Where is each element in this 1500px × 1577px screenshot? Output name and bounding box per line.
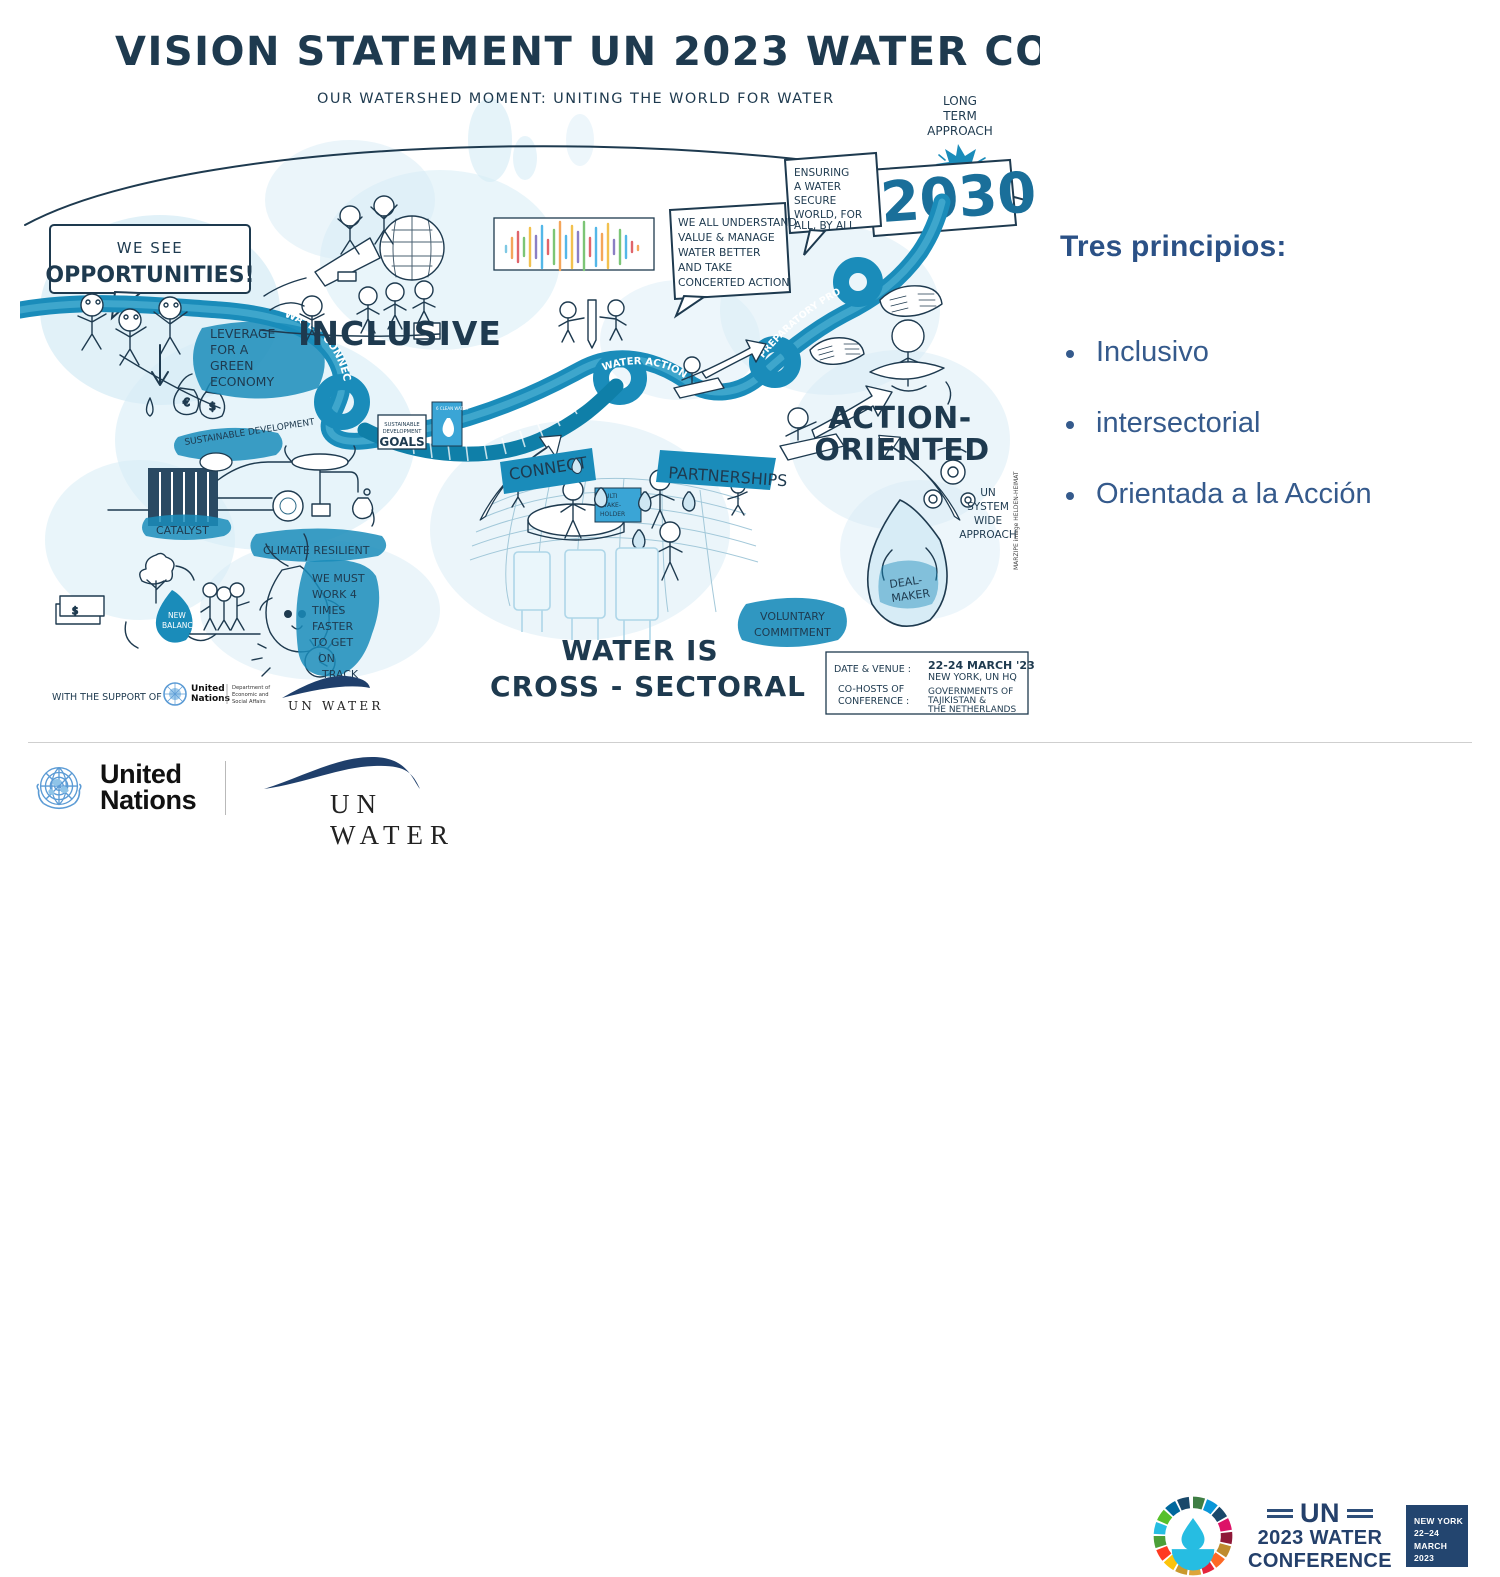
leverage-line3: GREEN xyxy=(210,358,254,373)
soundwave-panel xyxy=(494,218,654,270)
venue-value: NEW YORK, UN HQ xyxy=(928,672,1017,683)
work-faster-line1: WE MUST xyxy=(312,572,365,585)
sdg-badge-line3: GOALS xyxy=(379,435,424,449)
desa-line3: Social Affairs xyxy=(232,699,266,705)
principles-panel: Tres principios: Inclusivo intersectoria… xyxy=(1060,230,1480,549)
conference-un: UN xyxy=(1300,1500,1340,1527)
un-water-logo: UN WATER xyxy=(262,755,512,825)
opportunities-line1: WE SEE xyxy=(117,239,184,257)
principles-list: Inclusivo intersectorial Orientada a la … xyxy=(1060,336,1480,511)
left-bars-icon xyxy=(1267,1509,1293,1518)
long-term-approach-line2: TERM xyxy=(942,109,977,123)
un-wordmark-line2: Nations xyxy=(100,788,196,814)
un-system-line3: WIDE xyxy=(974,515,1002,527)
principle-item-3: Orientada a la Acción xyxy=(1060,478,1480,511)
sign-2030: 2030 xyxy=(868,160,1038,236)
principles-heading: Tres principios: xyxy=(1060,230,1480,264)
venue-line-1: NEW YORK xyxy=(1414,1515,1468,1527)
un-water-wordmark: UN WATER xyxy=(330,789,512,851)
ensuring-line3: SECURE xyxy=(794,195,836,207)
label-catalyst: CATALYST xyxy=(156,524,209,537)
word-water-is: WATER IS xyxy=(561,634,718,667)
cohosts-label-line2: CONFERENCE : xyxy=(838,696,909,707)
svg-text:$: $ xyxy=(209,400,216,413)
principle-item-2: intersectorial xyxy=(1060,407,1480,440)
cohost-line3: THE NETHERLANDS xyxy=(927,705,1016,715)
conference-line3: CONFERENCE xyxy=(1248,1550,1392,1572)
venue-line-2: 22–24 xyxy=(1414,1527,1468,1539)
work-faster-line6: ON xyxy=(318,652,335,665)
understand-line3: WATER BETTER xyxy=(678,246,761,259)
principle-label-1: Inclusivo xyxy=(1096,336,1209,368)
multi-stakeholder-line3: HOLDER xyxy=(600,511,625,518)
venue-line-4: 2023 xyxy=(1414,1552,1468,1564)
ensuring-line2: A WATER xyxy=(794,181,841,193)
unwater-swoosh-small xyxy=(282,676,370,698)
label-climate-resilient: CLIMATE RESILIENT xyxy=(263,544,370,557)
long-term-approach-line3: APPROACH xyxy=(927,124,993,138)
bullet-dot-icon xyxy=(1066,421,1074,429)
slide-footer: United Nations UN WATER xyxy=(0,743,1500,843)
leverage-line1: LEVERAGE xyxy=(210,326,276,341)
voluntary-line1: VOLUNTARY xyxy=(760,610,825,623)
un-emblem-icon xyxy=(28,757,90,819)
label-new-balance-line1: NEW xyxy=(168,611,186,620)
understand-line5: CONCERTED ACTION xyxy=(678,276,789,289)
long-term-approach-line1: LONG xyxy=(943,94,977,108)
ensuring-line5: ALL, BY ALL xyxy=(794,220,855,232)
un-system-line2: SYSTEM xyxy=(967,501,1009,513)
conference-line2: 2023 WATER xyxy=(1248,1527,1392,1549)
principle-label-2: intersectorial xyxy=(1096,407,1260,439)
date-venue-label: DATE & VENUE : xyxy=(834,664,911,675)
work-faster-line2: WORK 4 xyxy=(312,588,357,601)
ensuring-line1: ENSURING xyxy=(794,167,849,179)
conference-wordmark: UN 2023 WATER CONFERENCE xyxy=(1248,1500,1392,1572)
voluntary-line2: COMMITMENT xyxy=(754,626,831,639)
support-credit-strip: WITH THE SUPPORT OF United Nations Depar… xyxy=(52,676,384,713)
un-wordmark: United Nations xyxy=(100,762,196,814)
poster-title: VISION STATEMENT UN 2023 WATER CONFERENC… xyxy=(115,29,1040,75)
date-value: 22-24 MARCH '23 xyxy=(928,659,1035,672)
tag-voluntary-commitment: VOLUNTARY COMMITMENT xyxy=(738,598,847,647)
artist-credit: MARZIPE image HELDEN-HEIMAT xyxy=(1013,471,1020,570)
sdg6-label: 6 CLEAN WATER xyxy=(436,406,468,411)
understand-line4: AND TAKE xyxy=(678,261,732,274)
sdg-water-wheel-icon xyxy=(1152,1495,1234,1577)
work-faster-line3: TIMES xyxy=(311,604,345,617)
word-cross-sectoral: CROSS - SECTORAL xyxy=(490,670,806,703)
understand-line2: VALUE & MANAGE xyxy=(678,231,775,244)
opportunities-line2: OPPORTUNITIES! xyxy=(45,263,254,288)
leverage-line2: FOR A xyxy=(210,342,249,357)
desa-line1: Department of xyxy=(232,685,270,691)
svg-text:€: € xyxy=(183,396,190,409)
year-2030: 2030 xyxy=(878,160,1038,236)
understand-line1: WE ALL UNDERSTAND xyxy=(678,216,797,229)
word-inclusive: INCLUSIVE xyxy=(298,314,502,353)
leverage-line4: ECONOMY xyxy=(210,374,274,389)
principle-item-1: Inclusivo xyxy=(1060,336,1480,369)
svg-text:$: $ xyxy=(72,606,78,617)
word-action: ACTION- xyxy=(828,401,971,436)
desa-line2: Economic and xyxy=(232,692,269,698)
conference-venue-box: NEW YORK 22–24 MARCH 2023 xyxy=(1406,1505,1468,1567)
un-credit-line1: United xyxy=(191,684,225,694)
info-box-date-venue: DATE & VENUE : CO-HOSTS OF CONFERENCE : … xyxy=(826,652,1035,715)
principle-label-3: Orientada a la Acción xyxy=(1096,478,1372,510)
unwater-credit-wordmark: UN WATER xyxy=(288,699,384,713)
support-text: WITH THE SUPPORT OF xyxy=(52,692,162,703)
poster-subtitle: OUR WATERSHED MOMENT: UNITING THE WORLD … xyxy=(317,91,835,107)
united-nations-logo: United Nations xyxy=(28,757,196,819)
label-new-balance-line2: BALANCE xyxy=(162,621,198,630)
vision-statement-illustration: .hand{font-family:"DejaVu Sans",sans-ser… xyxy=(20,10,1040,735)
un-system-line1: UN xyxy=(980,487,996,499)
right-bars-icon xyxy=(1347,1509,1373,1518)
sdg-badge-line1: SUSTAINABLE xyxy=(384,422,419,428)
footer-logo-divider xyxy=(225,761,226,815)
venue-line-3: MARCH xyxy=(1414,1540,1468,1552)
bullet-dot-icon xyxy=(1066,350,1074,358)
un-system-line4: APPROACH xyxy=(959,529,1016,541)
money-note-icon: $ xyxy=(56,596,104,624)
conference-un-row: UN xyxy=(1248,1500,1392,1527)
work-faster-line5: TO GET xyxy=(311,636,353,649)
work-faster-line4: FASTER xyxy=(312,620,353,633)
slide-root: .hand{font-family:"DejaVu Sans",sans-ser… xyxy=(0,0,1500,843)
un-2023-water-conference-mark: UN 2023 WATER CONFERENCE NEW YORK 22–24 … xyxy=(1152,1495,1468,1577)
cohosts-label-line1: CO-HOSTS OF xyxy=(838,684,904,695)
bullet-dot-icon xyxy=(1066,492,1074,500)
un-credit-line2: Nations xyxy=(191,694,230,704)
